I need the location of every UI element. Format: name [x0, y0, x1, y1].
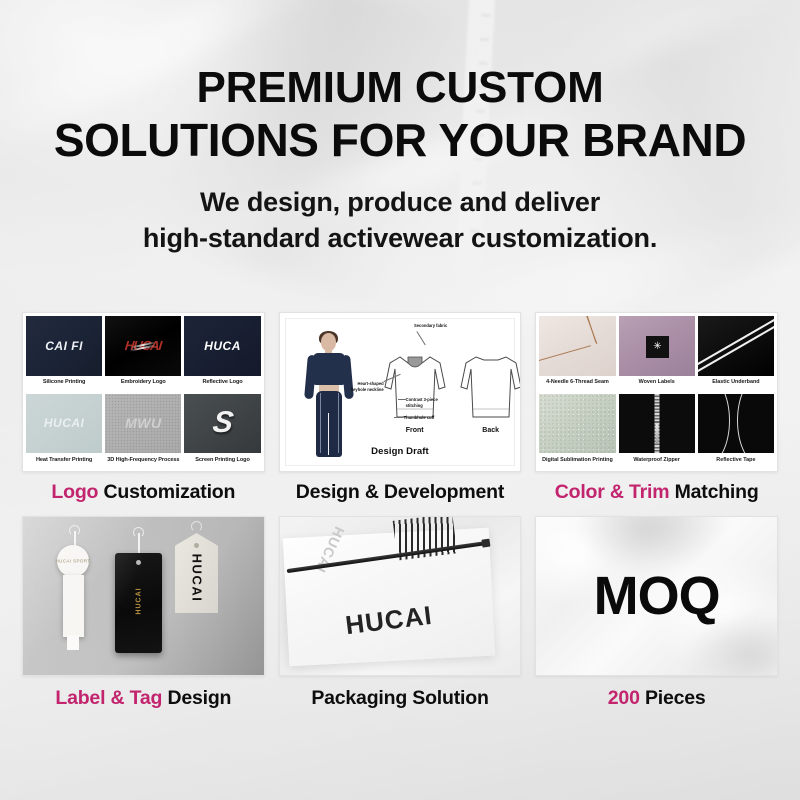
logo-sample-silicone: CAI FI Silicone Printing — [26, 316, 102, 391]
logo-sample-embroidery: HUCAI Embroidery Logo — [105, 316, 181, 391]
trim-sample-label: Elastic Underband — [698, 376, 774, 391]
caption-rest: Matching — [675, 481, 759, 503]
trim-sample-label: Digital Sublimation Printing — [539, 453, 615, 468]
card-caption: Design & Development — [279, 481, 522, 504]
caption-rest: Customization — [104, 481, 236, 503]
trim-sample-sublimation: Digital Sublimation Printing — [539, 394, 615, 469]
design-draft-sheet[interactable]: Front Back Secondary fabri — [279, 312, 522, 472]
front-label: Front — [382, 427, 448, 434]
poster-root: PREMIUM CUSTOM SOLUTIONS FOR YOUR BRAND … — [0, 0, 800, 800]
kraft-tag-text: HUCAI — [189, 553, 204, 602]
page-title: PREMIUM CUSTOM SOLUTIONS FOR YOUR BRAND — [0, 62, 800, 166]
annotation-stitching: Contrast 3-piece stitching — [406, 397, 440, 408]
trim-sample-underband: Elastic Underband — [698, 316, 774, 391]
annotation-thumbhole: Thumbhole cuff — [404, 415, 436, 421]
card-caption: Packaging Solution — [279, 687, 522, 710]
leader-line — [394, 417, 403, 418]
card-caption: Logo Customization — [22, 481, 265, 504]
card-logo-customization[interactable]: CAI FI Silicone Printing HUCAI Embroider… — [22, 312, 265, 504]
annotation-neckline: Heart-shaped keyhole neckline — [348, 381, 384, 392]
logo-sample-screen-print: S Screen Printing Logo — [184, 394, 260, 469]
card-caption: 200 Pieces — [535, 687, 778, 710]
logo-sample-text: CAI FI — [45, 339, 83, 353]
logo-sample-label: 3D High-Frequency Process — [105, 453, 181, 468]
headline-line-1: PREMIUM CUSTOM — [0, 62, 800, 114]
card-design-development[interactable]: Front Back Secondary fabri — [279, 312, 522, 504]
bag-logo: HUCAI — [343, 600, 433, 641]
logo-sample-text: HUCAI — [124, 338, 162, 353]
logo-sample-reflective: HUCA Reflective Logo — [184, 316, 260, 391]
card-moq[interactable]: MOQ 200 Pieces — [535, 516, 778, 710]
trim-sample-zipper: Waterproof Zipper — [619, 394, 695, 469]
draft-title: Design Draft — [286, 446, 515, 457]
trim-sample-label: Woven Labels — [619, 376, 695, 391]
subhead-line-2: high-standard activewear customization. — [0, 220, 800, 256]
front-flat-sketch: Front — [382, 347, 448, 421]
caption-rest: Packaging Solution — [311, 687, 488, 709]
feature-grid: CAI FI Silicone Printing HUCAI Embroider… — [0, 312, 800, 710]
hang-tag-photo[interactable]: HUCAI SPORT HUCAI — [22, 516, 265, 676]
back-flat-sketch: Back — [458, 347, 522, 421]
leader-line — [398, 399, 406, 400]
subhead-line-1: We design, produce and deliver — [0, 184, 800, 220]
logo-sample-label: Embroidery Logo — [105, 376, 181, 391]
logo-sample-label: Screen Printing Logo — [184, 453, 260, 468]
black-hang-tag: HUCAI — [115, 539, 162, 639]
caption-rest: Design — [167, 687, 231, 709]
logo-sample-label: Reflective Logo — [184, 376, 260, 391]
logo-sample-text: HUCAI — [44, 416, 85, 430]
round-hang-tag: HUCAI SPORT — [57, 533, 89, 642]
model-illustration — [300, 333, 358, 459]
caption-accent: 200 — [608, 687, 640, 709]
logo-sample-text: HUCA — [204, 339, 241, 353]
zip-seal-icon — [286, 541, 487, 573]
caption-rest: Design & Development — [296, 481, 504, 503]
card-label-tag-design[interactable]: HUCAI SPORT HUCAI — [22, 516, 265, 710]
asterisk-icon: ✳ — [646, 336, 669, 359]
headline-line-2: SOLUTIONS FOR YOUR BRAND — [0, 114, 800, 166]
packaging-photo[interactable]: HUCAI HUCAI — [279, 516, 522, 676]
trim-sample-sheet[interactable]: 4-Needle 6-Thread Seam ✳ Woven Labels — [535, 312, 778, 472]
trim-sample-seam: 4-Needle 6-Thread Seam — [539, 316, 615, 391]
card-caption: Label & Tag Design — [22, 687, 265, 710]
logo-sample-text: S — [210, 408, 234, 438]
header: PREMIUM CUSTOM SOLUTIONS FOR YOUR BRAND … — [0, 0, 800, 256]
moq-badge-text: MOQ — [536, 569, 777, 623]
trim-sample-woven-label: ✳ Woven Labels — [619, 316, 695, 391]
caption-accent: Label & Tag — [55, 687, 162, 709]
trim-sample-label: Waterproof Zipper — [619, 453, 695, 468]
logo-sample-text: MWU — [125, 415, 162, 431]
card-packaging-solution[interactable]: HUCAI HUCAI Packaging Solution — [279, 516, 522, 710]
black-tag-text: HUCAI — [135, 587, 142, 614]
poly-bag: HUCAI HUCAI — [282, 528, 494, 667]
caption-accent: Color & Trim — [555, 481, 670, 503]
logo-sample-3d-process: MWU 3D High-Frequency Process — [105, 394, 181, 469]
trim-sample-label: 4-Needle 6-Thread Seam — [539, 376, 615, 391]
moq-panel[interactable]: MOQ — [535, 516, 778, 676]
caption-rest: Pieces — [645, 687, 706, 709]
card-color-trim-matching[interactable]: 4-Needle 6-Thread Seam ✳ Woven Labels — [535, 312, 778, 504]
page-subtitle: We design, produce and deliver high-stan… — [0, 184, 800, 256]
back-label: Back — [458, 427, 522, 434]
card-caption: Color & Trim Matching — [535, 481, 778, 504]
logo-sample-label: Heat Transfer Printing — [26, 453, 102, 468]
trim-sample-label: Reflective Tape — [698, 453, 774, 468]
logo-sample-sheet[interactable]: CAI FI Silicone Printing HUCAI Embroider… — [22, 312, 265, 472]
logo-sample-heat-transfer: HUCAI Heat Transfer Printing — [26, 394, 102, 469]
trim-sample-reflective-tape: Reflective Tape — [698, 394, 774, 469]
kraft-hang-tag: HUCAI — [175, 527, 218, 607]
leader-line — [416, 331, 425, 345]
round-tag-text: HUCAI SPORT — [55, 559, 90, 564]
logo-sample-label: Silicone Printing — [26, 376, 102, 391]
caption-accent: Logo — [51, 481, 98, 503]
annotation-secondary-fabric: Secondary fabric — [396, 323, 466, 329]
